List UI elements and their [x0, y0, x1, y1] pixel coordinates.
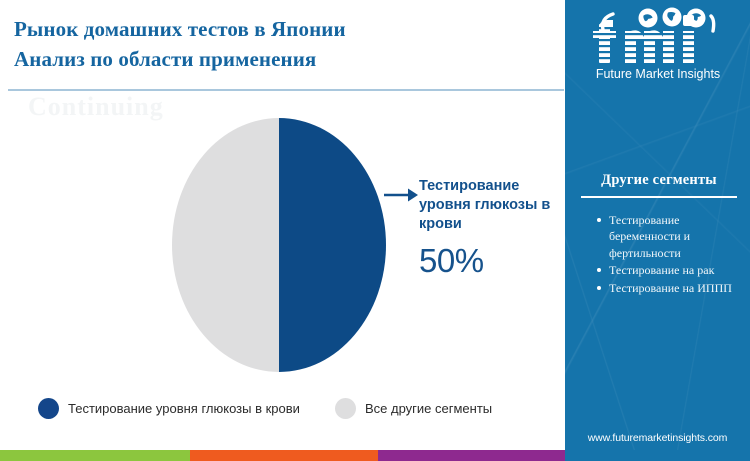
bullet-icon	[597, 218, 601, 222]
legend-label-other: Все другие сегменты	[365, 401, 492, 416]
page-title: Рынок домашних тестов в Японии Анализ по…	[14, 14, 554, 74]
legend-item-other: Все другие сегменты	[335, 398, 492, 419]
list-item: Тестирование беременности и фертильности	[597, 212, 739, 262]
page-title-line-2: Анализ по области применения	[14, 44, 554, 74]
list-item: Тестирование на ИППП	[597, 280, 739, 297]
legend-swatch-other	[335, 398, 356, 419]
globe-americas-icon	[639, 9, 658, 28]
callout-value: 50%	[419, 243, 569, 279]
globe-africa-icon	[663, 8, 682, 27]
background-watermark: Continuing	[28, 92, 164, 122]
list-item-label: Тестирование на рак	[609, 263, 714, 277]
header-divider	[8, 89, 564, 91]
list-item: Тестирование на рак	[597, 262, 739, 279]
other-segments-title: Другие сегменты	[579, 172, 739, 189]
pie-chart	[172, 118, 386, 372]
other-segments-list: Тестирование беременности и фертильности…	[579, 212, 739, 297]
callout-block: Тестирование уровня глюкозы в крови 50%	[419, 177, 569, 279]
other-segments-box: Другие сегменты Тестирование беременност…	[579, 172, 739, 297]
bar-segment-blue	[565, 450, 750, 461]
callout-arrow-icon	[384, 186, 420, 204]
website-url[interactable]: www.futuremarketinsights.com	[565, 432, 750, 444]
other-segments-divider	[581, 196, 737, 198]
pie-chart-circle	[172, 118, 386, 372]
legend-label-primary: Тестирование уровня глюкозы в крови	[68, 401, 300, 416]
legend-swatch-primary	[38, 398, 59, 419]
bar-segment-orange	[190, 450, 378, 461]
bar-segment-green	[0, 450, 190, 461]
bullet-icon	[597, 268, 601, 272]
legend-item-primary: Тестирование уровня глюкозы в крови	[38, 398, 300, 419]
fmi-logo[interactable]: Future Market Insights	[583, 6, 733, 82]
logo-tagline: Future Market Insights	[596, 67, 720, 81]
infographic-page: Рынок домашних тестов в Японии Анализ по…	[0, 0, 750, 461]
bullet-icon	[597, 286, 601, 290]
page-title-line-1: Рынок домашних тестов в Японии	[14, 14, 554, 44]
callout-label: Тестирование уровня глюкозы в крови	[419, 177, 569, 234]
bottom-color-bar	[0, 450, 750, 461]
list-item-label: Тестирование на ИППП	[609, 281, 732, 295]
list-item-label: Тестирование беременности и фертильности	[609, 213, 690, 260]
bar-segment-purple	[378, 450, 565, 461]
side-panel: Future Market Insights Другие сегменты Т…	[565, 0, 750, 455]
